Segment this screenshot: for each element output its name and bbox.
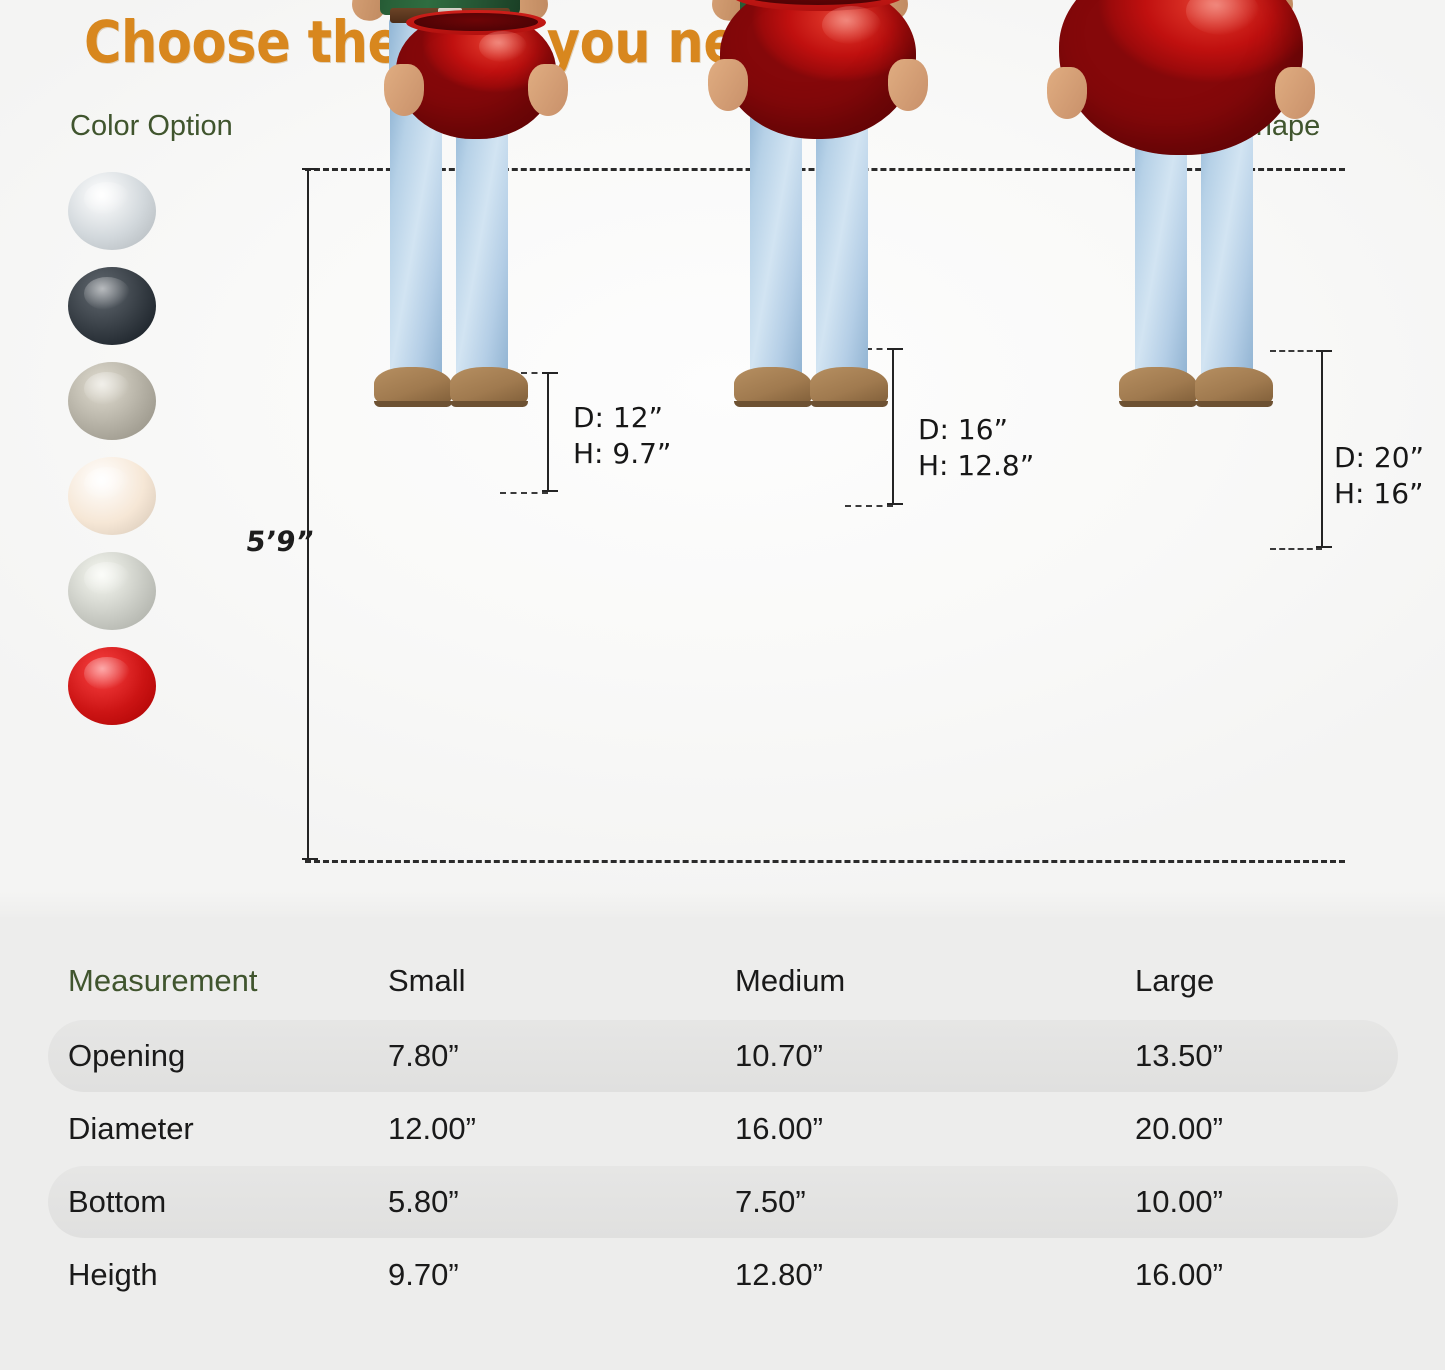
small-diameter-label: D: 12” bbox=[573, 400, 671, 436]
color-swatch-warm-gray-taupe[interactable] bbox=[68, 362, 156, 440]
table-row: Bottom 5.80” 7.50” 10.00” bbox=[48, 1166, 1398, 1238]
cell-heigth-large: 16.00” bbox=[1135, 1257, 1223, 1293]
large-height-label: H: 16” bbox=[1334, 476, 1424, 512]
row-label-heigth: Heigth bbox=[68, 1257, 158, 1293]
bottom-guide-line bbox=[305, 860, 1345, 863]
color-swatch-light-gray[interactable] bbox=[68, 552, 156, 630]
shoe-right bbox=[810, 367, 888, 407]
person-height-dimension-line bbox=[307, 168, 309, 860]
large-dimension-text: D: 20” H: 16” bbox=[1334, 440, 1424, 512]
table-header-row: Measurement Small Medium Large bbox=[48, 945, 1398, 1017]
table-row: Heigth 9.70” 12.80” 16.00” bbox=[48, 1239, 1398, 1311]
large-diameter-label: D: 20” bbox=[1334, 440, 1424, 476]
cell-opening-small: 7.80” bbox=[388, 1038, 459, 1074]
color-option-label: Color Option bbox=[70, 110, 233, 143]
row-label-diameter: Diameter bbox=[68, 1111, 194, 1147]
medium-dimension-line bbox=[892, 348, 894, 505]
hand-left bbox=[384, 64, 424, 116]
figure-small: KUTE NEST bbox=[330, 0, 570, 407]
hand-left bbox=[1047, 67, 1087, 119]
hero-panel: Choose the size you need Color Option Gl… bbox=[0, 0, 1445, 917]
planter-body bbox=[1059, 0, 1303, 155]
planter-opening bbox=[414, 13, 539, 31]
small-dimension-line bbox=[547, 372, 549, 492]
cell-opening-medium: 10.70” bbox=[735, 1038, 823, 1074]
cell-opening-large: 13.50” bbox=[1135, 1038, 1223, 1074]
large-bottom-leader bbox=[1270, 548, 1322, 550]
hand-right bbox=[528, 64, 568, 116]
cell-bottom-medium: 7.50” bbox=[735, 1184, 806, 1220]
large-dimension-line bbox=[1321, 350, 1323, 548]
shoe-right bbox=[450, 367, 528, 407]
medium-diameter-label: D: 16” bbox=[918, 412, 1034, 448]
small-bottom-leader bbox=[500, 492, 548, 494]
small-height-label: H: 9.7” bbox=[573, 436, 671, 472]
column-header-large: Large bbox=[1135, 963, 1214, 999]
medium-bottom-leader bbox=[845, 505, 893, 507]
small-dimension-text: D: 12” H: 9.7” bbox=[573, 400, 671, 472]
medium-height-label: H: 12.8” bbox=[918, 448, 1034, 484]
cell-bottom-large: 10.00” bbox=[1135, 1184, 1223, 1220]
hand-right bbox=[1275, 67, 1315, 119]
medium-dimension-text: D: 16” H: 12.8” bbox=[918, 412, 1034, 484]
row-label-bottom: Bottom bbox=[68, 1184, 166, 1220]
planter-body bbox=[720, 0, 916, 139]
planter-highlight bbox=[822, 6, 881, 44]
cell-bottom-small: 5.80” bbox=[388, 1184, 459, 1220]
planter-medium bbox=[720, 0, 916, 139]
table-row: Diameter 12.00” 16.00” 20.00” bbox=[48, 1093, 1398, 1165]
shoe-left bbox=[1119, 367, 1197, 407]
color-swatch-light-blue-gray[interactable] bbox=[68, 172, 156, 250]
large-top-leader bbox=[1270, 350, 1322, 352]
cell-heigth-medium: 12.80” bbox=[735, 1257, 823, 1293]
shoe-left bbox=[734, 367, 812, 407]
color-swatch-list bbox=[68, 172, 160, 742]
column-header-small: Small bbox=[388, 963, 466, 999]
figure-medium: KUTE NEST bbox=[690, 0, 930, 407]
color-swatch-charcoal-black[interactable] bbox=[68, 267, 156, 345]
shoe-left bbox=[374, 367, 452, 407]
planter-large bbox=[1059, 0, 1303, 155]
hand-right bbox=[888, 59, 928, 111]
column-header-measurement: Measurement bbox=[68, 963, 258, 999]
column-header-medium: Medium bbox=[735, 963, 845, 999]
cell-diameter-large: 20.00” bbox=[1135, 1111, 1223, 1147]
cell-diameter-small: 12.00” bbox=[388, 1111, 476, 1147]
person-height-label: 5’9” bbox=[244, 525, 316, 558]
table-row: Opening 7.80” 10.70” 13.50” bbox=[48, 1020, 1398, 1092]
cell-diameter-medium: 16.00” bbox=[735, 1111, 823, 1147]
color-swatch-red[interactable] bbox=[68, 647, 156, 725]
color-swatch-cream-ivory[interactable] bbox=[68, 457, 156, 535]
hand-left bbox=[708, 59, 748, 111]
figure-large: KUTE NEST bbox=[1075, 0, 1315, 407]
cell-heigth-small: 9.70” bbox=[388, 1257, 459, 1293]
measurement-table: Measurement Small Medium Large Opening 7… bbox=[0, 917, 1445, 1370]
shoe-right bbox=[1195, 367, 1273, 407]
row-label-opening: Opening bbox=[68, 1038, 185, 1074]
